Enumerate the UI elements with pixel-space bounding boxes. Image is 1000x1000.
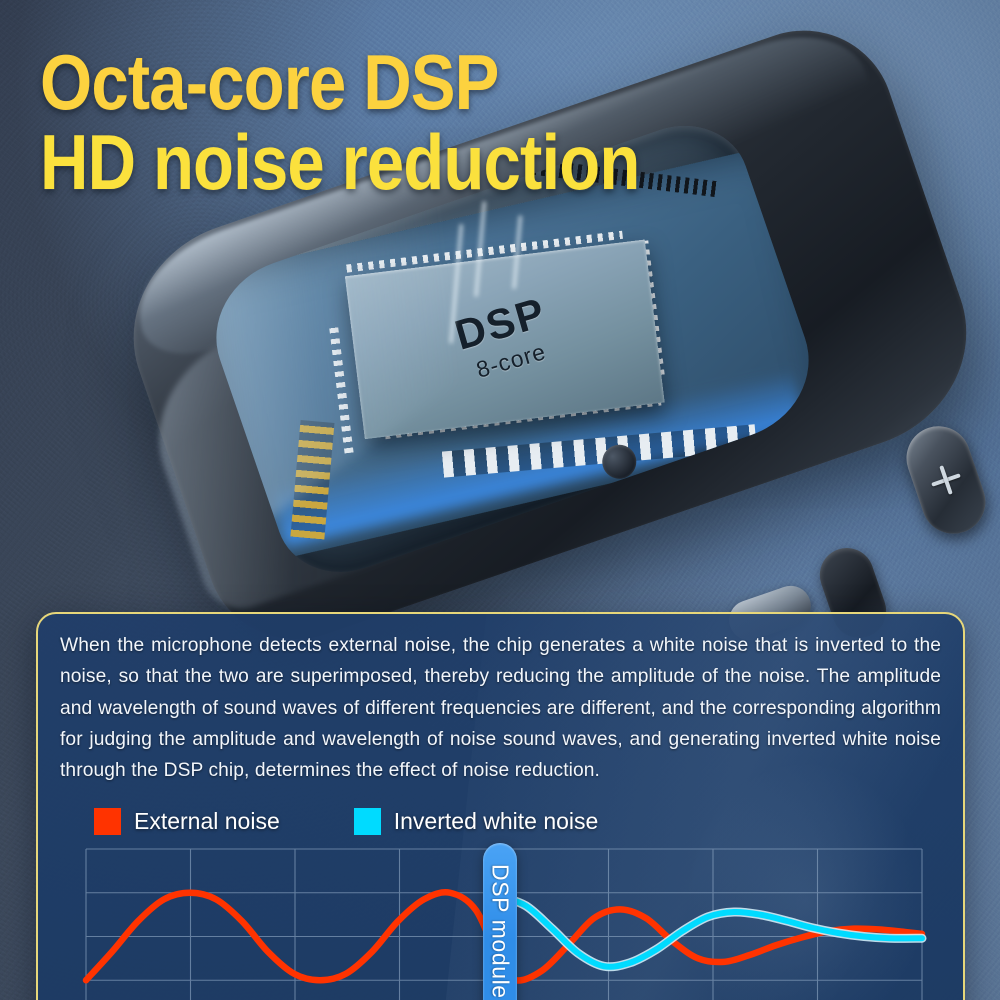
cyan-swatch-icon [354,808,381,835]
chart-legend: External noise Inverted white noise [94,808,963,835]
dsp-module-label: DSP module [487,864,514,999]
legend-label-external-noise: External noise [134,808,280,835]
series-line-inverted-glow [500,897,922,968]
legend-item-inverted-white-noise: Inverted white noise [354,808,599,835]
description-paragraph: When the microphone detects external noi… [60,630,941,786]
red-swatch-icon [94,808,121,835]
headline-line-2: HD noise reduction [40,122,639,202]
info-card: When the microphone detects external noi… [36,612,965,1000]
dsp-module-badge: DSP module [483,843,517,1000]
legend-label-inverted-white-noise: Inverted white noise [394,808,599,835]
waveform-chart: DSP module [86,849,922,1000]
volume-up-button[interactable] [898,418,994,543]
plus-icon [927,461,965,499]
page-title: Octa-core DSP HD noise reduction [40,42,639,203]
headline-line-1: Octa-core DSP [40,42,639,122]
product-marketing-image: DSP 8-core Octa-core DSP HD noise reduct… [0,0,1000,1000]
legend-item-external-noise: External noise [94,808,280,835]
